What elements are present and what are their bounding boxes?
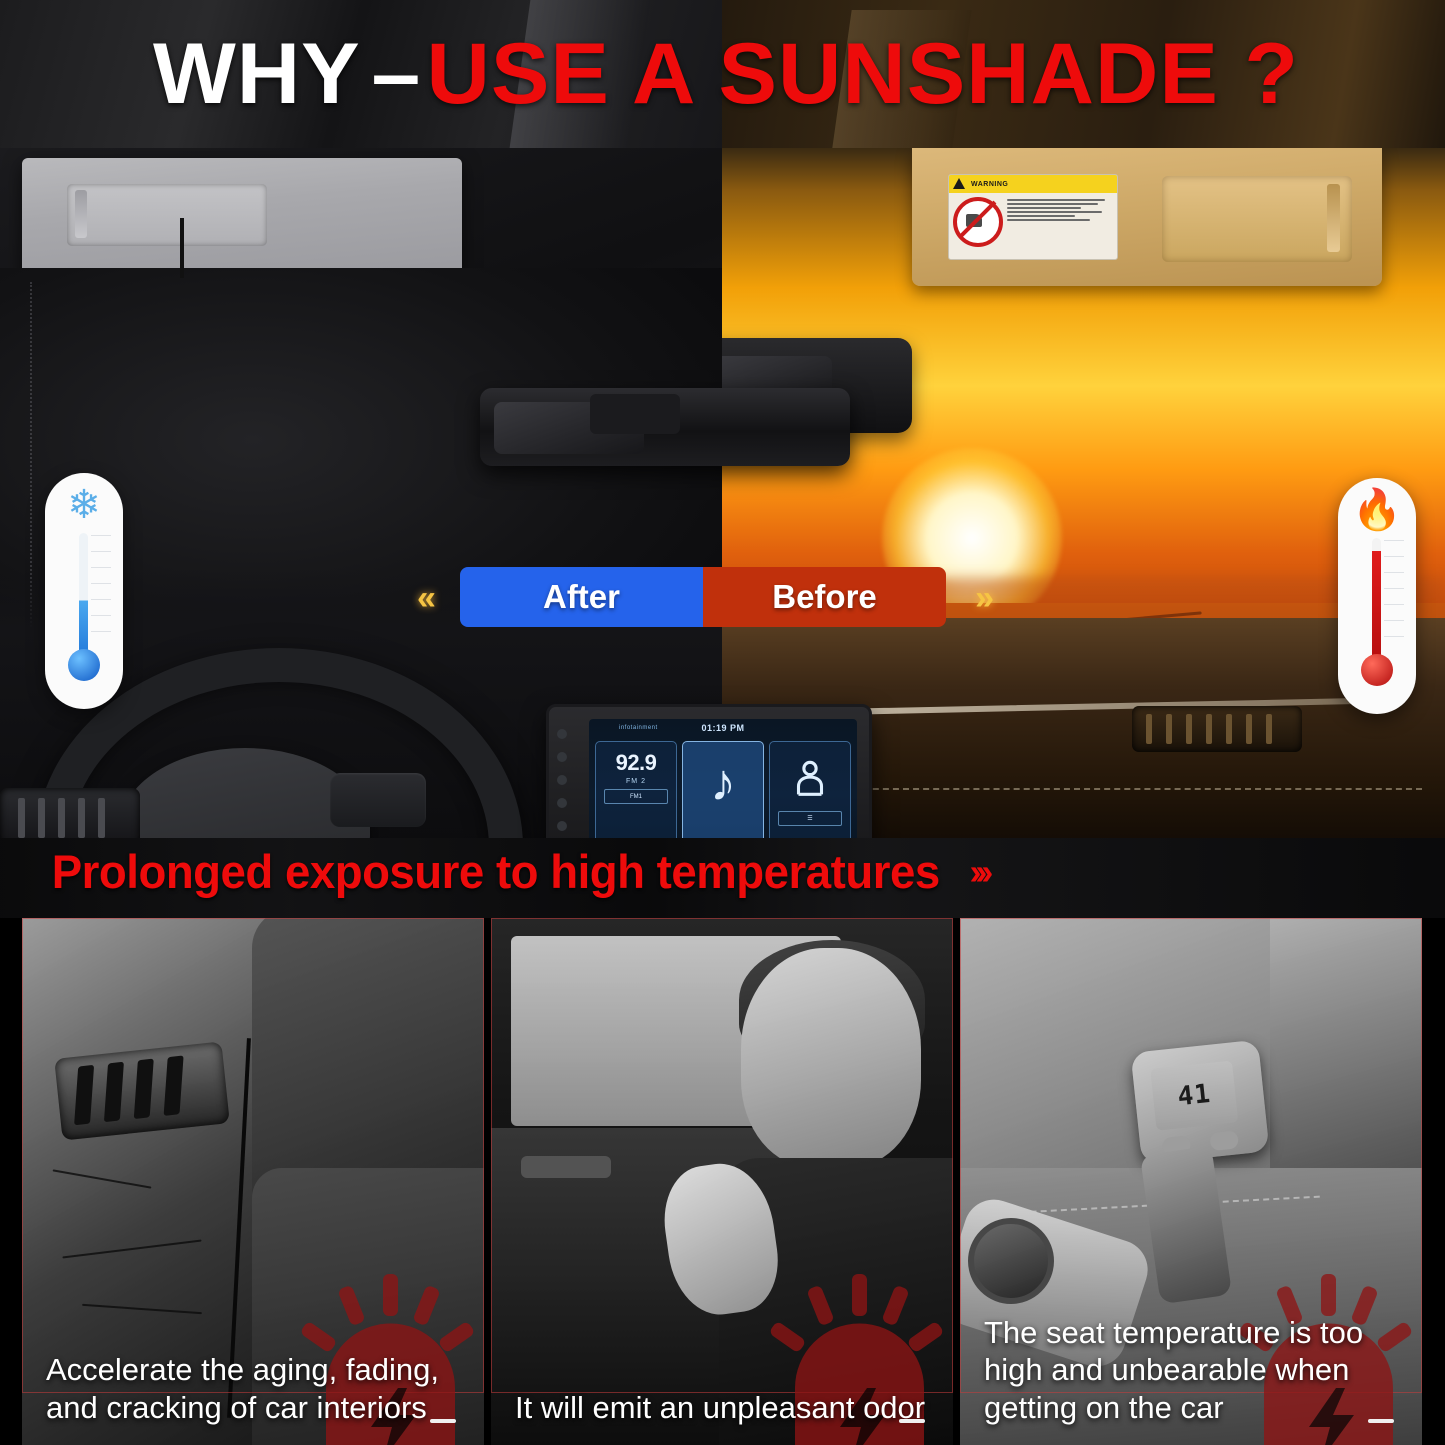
radio-frequency: 92.9 bbox=[616, 750, 657, 776]
title-word-why: WHY bbox=[153, 31, 361, 117]
rearview-mirror bbox=[480, 388, 850, 466]
card-interior-aging: Accelerate the aging, fading, and cracki… bbox=[22, 918, 484, 1445]
hot-thermometer-bulb bbox=[1361, 654, 1393, 686]
visor-mirror-cover bbox=[67, 184, 267, 246]
benefit-cards: Accelerate the aging, fading, and cracki… bbox=[0, 918, 1445, 1445]
cold-thermometer-bulb bbox=[68, 649, 100, 681]
title-phrase-red: USE A SUNSHADE ? bbox=[426, 31, 1298, 117]
card-odor: It will emit an unpleasant odor bbox=[491, 918, 953, 1445]
thermometer-reading: 41 bbox=[1176, 1079, 1212, 1112]
door-handle bbox=[521, 1156, 611, 1178]
infotainment-head-unit[interactable]: infotainment 01:19 PM 92.9 FM 2 FM1 ◂▸ ♪… bbox=[546, 704, 872, 848]
mirror-stem bbox=[180, 218, 184, 278]
title-dash: – bbox=[372, 31, 422, 117]
snowflake-icon: ❄ bbox=[45, 485, 123, 525]
card-dash-mark bbox=[899, 1419, 925, 1423]
subheading: Prolonged exposure to high temperatures … bbox=[38, 848, 987, 895]
cold-thermometer-ticks bbox=[91, 535, 111, 665]
home-icon bbox=[557, 798, 567, 808]
mirror-housing bbox=[590, 394, 680, 434]
warning-label-text-lines bbox=[1007, 197, 1113, 247]
hot-thermometer-ticks bbox=[1384, 540, 1404, 670]
radio-preset-chip[interactable]: FM1 bbox=[604, 789, 668, 804]
hero-comparison: WARNING bbox=[0, 148, 1445, 848]
wheel-button-right bbox=[330, 773, 426, 827]
head-unit-brand: infotainment bbox=[619, 725, 658, 731]
head-unit-panels: 92.9 FM 2 FM1 ◂▸ ♪ ⏮⏭ bbox=[595, 741, 851, 848]
head-unit-statusbar: infotainment 01:19 PM bbox=[589, 719, 857, 737]
person-head bbox=[741, 948, 921, 1168]
card-caption: The seat temperature is too high and unb… bbox=[984, 1314, 1404, 1427]
flame-icon: 🔥 bbox=[1338, 490, 1416, 530]
menu-icon bbox=[557, 821, 567, 831]
sun-visor-gray bbox=[22, 158, 462, 278]
after-label[interactable]: After bbox=[460, 567, 703, 627]
visor-mirror-cover-tan bbox=[1162, 176, 1352, 262]
subheading-banner: Prolonged exposure to high temperatures … bbox=[0, 838, 1445, 918]
sun-visor-tan: WARNING bbox=[912, 148, 1382, 286]
head-unit-side-buttons[interactable] bbox=[557, 729, 567, 831]
warning-label-body bbox=[949, 193, 1117, 251]
radio-band: FM 2 bbox=[626, 778, 646, 785]
head-unit-screen[interactable]: infotainment 01:19 PM 92.9 FM 2 FM1 ◂▸ ♪… bbox=[589, 719, 857, 848]
dashboard-vent-icon bbox=[54, 1041, 230, 1140]
air-vent-right bbox=[1132, 706, 1302, 752]
subheading-text: Prolonged exposure to high temperatures bbox=[52, 848, 940, 895]
cold-thermometer-tube bbox=[79, 533, 88, 663]
music-note-icon: ♪ bbox=[710, 760, 736, 807]
infrared-thermometer-gun: 41 bbox=[1130, 1040, 1269, 1165]
warning-label-header: WARNING bbox=[949, 175, 1117, 193]
power-knob-icon bbox=[557, 729, 567, 739]
seat-backrest-shape bbox=[252, 918, 484, 1208]
thermometer-lcd: 41 bbox=[1150, 1060, 1238, 1130]
climate-tile[interactable]: ☰ ◂▸ bbox=[769, 741, 851, 848]
hot-thermometer: 🔥 bbox=[1338, 478, 1416, 714]
cold-thermometer: ❄ bbox=[45, 473, 123, 709]
page-title: WHY – USE A SUNSHADE ? bbox=[0, 0, 1445, 148]
left-chevrons-icon: « bbox=[417, 579, 436, 618]
warning-triangle-icon bbox=[953, 178, 965, 189]
card-seat-temperature: 41 bbox=[960, 918, 1422, 1445]
volume-knob-icon bbox=[557, 752, 567, 762]
climate-level-chip[interactable]: ☰ bbox=[778, 811, 842, 826]
head-unit-clock: 01:19 PM bbox=[701, 723, 744, 733]
right-chevrons-icon: » bbox=[975, 579, 994, 618]
hot-thermometer-tube bbox=[1372, 538, 1381, 668]
no-child-seat-icon bbox=[953, 197, 1003, 247]
radio-tile[interactable]: 92.9 FM 2 FM1 ◂▸ bbox=[595, 741, 677, 848]
subheading-chevrons-icon: ››› bbox=[969, 851, 987, 893]
card-dash-mark bbox=[1368, 1419, 1394, 1423]
mute-icon bbox=[557, 775, 567, 785]
infographic-page: WHY – USE A SUNSHADE ? bbox=[0, 0, 1445, 1445]
airbag-warning-label: WARNING bbox=[948, 174, 1118, 260]
card-caption: Accelerate the aging, fading, and cracki… bbox=[46, 1351, 466, 1427]
warning-label-heading: WARNING bbox=[971, 181, 1008, 188]
card-dash-mark bbox=[430, 1419, 456, 1423]
before-label[interactable]: Before bbox=[703, 567, 946, 627]
title-banner: WHY – USE A SUNSHADE ? bbox=[0, 0, 1445, 148]
wristwatch bbox=[968, 1218, 1054, 1304]
media-tile[interactable]: ♪ ⏮⏭ bbox=[682, 741, 764, 848]
seat-heater-icon bbox=[787, 756, 833, 807]
thermometer-button-right[interactable] bbox=[1209, 1130, 1239, 1151]
before-after-badge[interactable]: « After Before » bbox=[460, 567, 946, 627]
card-caption: It will emit an unpleasant odor bbox=[515, 1389, 935, 1427]
